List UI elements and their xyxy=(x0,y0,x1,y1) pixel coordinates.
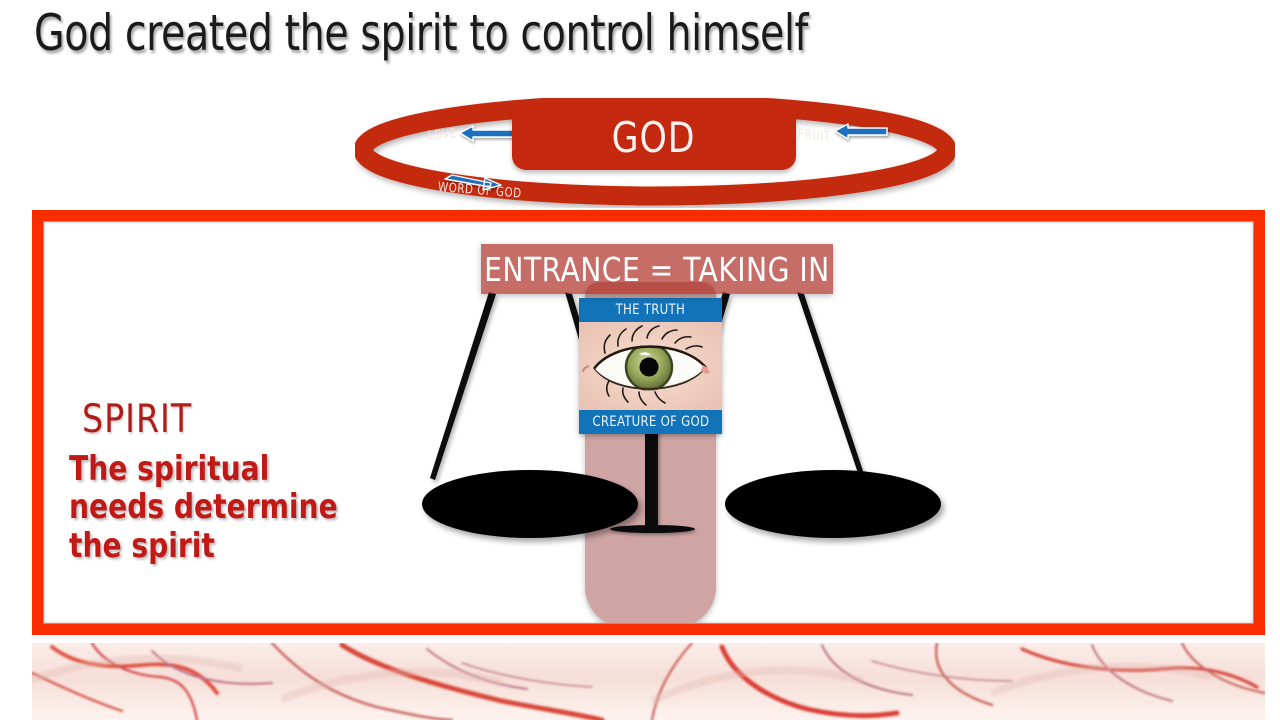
entrance-banner-label: ENTRANCE = TAKING IN xyxy=(484,250,830,289)
eye-top-bar: THE TRUTH xyxy=(579,298,722,322)
eye-top-label: THE TRUTH xyxy=(616,298,685,322)
flesh-tissue-texture xyxy=(32,643,1265,720)
god-ring-diagram: GOD LOVE FRUIT WORD OF GOD xyxy=(355,98,955,208)
left-arrow-icon xyxy=(460,126,513,141)
god-center-box: GOD xyxy=(512,105,796,170)
left-arrow-icon xyxy=(835,124,887,139)
eye-bottom-label: CREATURE OF GOD xyxy=(592,410,709,434)
eye-bottom-bar: CREATURE OF GOD xyxy=(579,410,722,434)
ring-label-love: LOVE xyxy=(427,126,457,144)
spirit-panel-inner: SPIRIT The spiritual needs determine the… xyxy=(43,221,1254,624)
human-eye-photo xyxy=(579,322,722,410)
entrance-banner: ENTRANCE = TAKING IN xyxy=(481,244,833,294)
scale-pan-left xyxy=(422,470,638,538)
spirit-panel: SPIRIT The spiritual needs determine the… xyxy=(32,210,1265,635)
scale-pan-right xyxy=(725,470,941,538)
eye-card: THE TRUTH xyxy=(579,298,722,434)
ring-label-fruit: FRUIT xyxy=(798,127,831,145)
slide-canvas: God created the spirit to control himsel… xyxy=(0,0,1280,720)
page-title: God created the spirit to control himsel… xyxy=(34,4,808,62)
god-label: GOD xyxy=(612,113,696,162)
scale-post-base xyxy=(610,525,695,533)
